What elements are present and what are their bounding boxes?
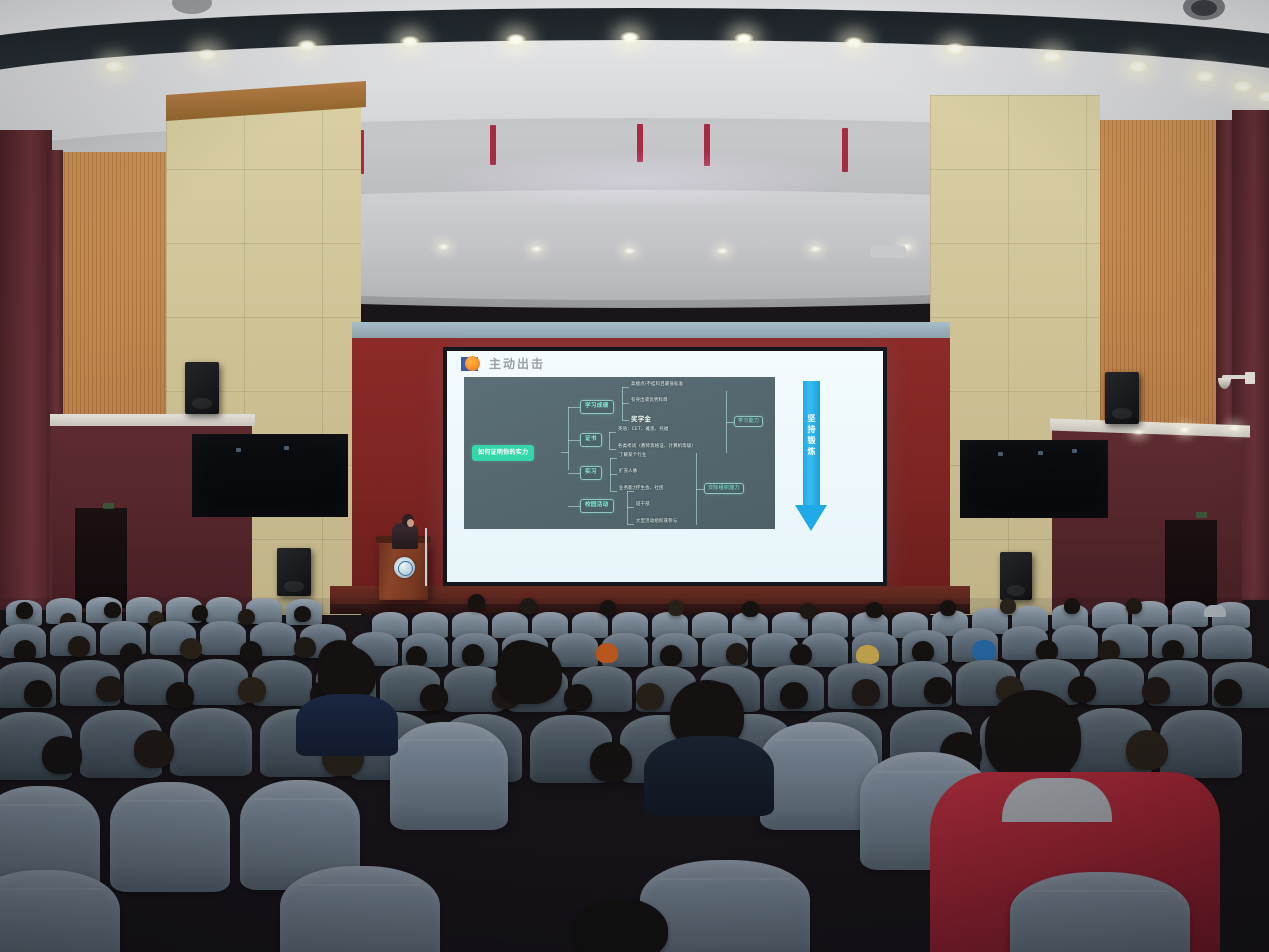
seat-crease bbox=[254, 798, 345, 800]
seat-crease bbox=[1032, 890, 1169, 892]
ceiling-spot bbox=[437, 243, 450, 251]
ceiling-downlight bbox=[1041, 50, 1063, 63]
ceiling-downlight bbox=[399, 35, 421, 48]
audience-head bbox=[1098, 640, 1120, 661]
right-soffit-spot bbox=[1132, 428, 1145, 436]
audience-head bbox=[24, 680, 52, 707]
mindmap-connector-branch4 bbox=[568, 506, 580, 507]
slide-header-title: 主动出击 bbox=[489, 355, 545, 372]
seat-crease bbox=[876, 771, 975, 773]
orange-circle-logo-icon bbox=[465, 356, 480, 371]
seat bbox=[1160, 710, 1242, 778]
seat-crease bbox=[0, 804, 86, 806]
audience-head bbox=[1162, 640, 1184, 661]
mindmap-connector-branch1 bbox=[568, 407, 580, 408]
ceiling-light-wash bbox=[430, 150, 850, 210]
audience-head bbox=[294, 606, 311, 622]
microphone-stem bbox=[425, 528, 427, 586]
ceiling-light-housing bbox=[870, 246, 906, 258]
ceiling-spot bbox=[623, 247, 636, 255]
panel-indicator-light bbox=[236, 448, 241, 452]
left-exit-door[interactable] bbox=[75, 508, 127, 608]
left-lower-soffit bbox=[50, 414, 255, 426]
mindmap-connector-b2-sub bbox=[609, 432, 610, 449]
arrow-label: 坚持锻炼 bbox=[804, 413, 819, 457]
audience-head bbox=[866, 602, 883, 618]
right-floor-speaker bbox=[1000, 552, 1032, 600]
mindmap-connector-spine bbox=[568, 407, 569, 470]
seat-foreground bbox=[1010, 872, 1190, 952]
mindmap-connector-b1-s1 bbox=[622, 387, 629, 388]
audience-head-orange-cap bbox=[596, 643, 618, 663]
audience-head bbox=[520, 598, 537, 614]
mindmap-connector-b3-s1 bbox=[610, 458, 617, 459]
mindmap-leaf-b3-2: 扩充人脉 bbox=[619, 470, 637, 474]
ceiling-downlight bbox=[296, 39, 318, 52]
audience-head bbox=[600, 600, 616, 616]
audience-head bbox=[406, 646, 427, 667]
audience-cap-icon bbox=[1204, 605, 1226, 617]
ceiling-downlight bbox=[843, 36, 865, 49]
ceiling-downlight bbox=[196, 48, 218, 61]
audience-head bbox=[134, 730, 174, 768]
projection-screen: 主动出击 如何证明你的实力 学习成绩 高绩点/不挂科且最低标准 有突出或优势科目… bbox=[447, 351, 883, 582]
lecturer-body bbox=[392, 523, 418, 549]
audience-head bbox=[42, 736, 82, 774]
seat-crease bbox=[774, 739, 864, 741]
audience-head bbox=[660, 645, 682, 666]
mindmap-branch-node-3: 实习 bbox=[580, 466, 602, 480]
mindmap-leaf-b4-3: 大型活动组织或参与 bbox=[636, 520, 677, 524]
mindmap-branch-node-1: 学习成绩 bbox=[580, 400, 614, 414]
ceiling-spot bbox=[530, 245, 543, 253]
audience-head bbox=[180, 638, 202, 659]
audience-head bbox=[96, 676, 124, 702]
audience-head bbox=[1126, 598, 1142, 614]
audience-head bbox=[1068, 676, 1096, 703]
arrow-head-icon bbox=[795, 505, 827, 531]
seat bbox=[1052, 625, 1098, 659]
mindmap-leaf-b1-2: 有突出或优势科目 bbox=[631, 399, 668, 403]
foreground-shoulders-left bbox=[296, 694, 398, 756]
seat-foreground bbox=[280, 866, 440, 952]
right-soffit-spot bbox=[1228, 424, 1241, 432]
audience-head bbox=[240, 641, 262, 663]
audience-head bbox=[940, 600, 956, 616]
ceiling-spot bbox=[809, 245, 822, 253]
mindmap-leaf-b4-2: 班干部 bbox=[636, 503, 650, 507]
seat-crease bbox=[660, 878, 789, 880]
audience-head bbox=[852, 679, 880, 706]
seat bbox=[1202, 625, 1252, 659]
audience-head bbox=[726, 643, 748, 665]
audience-head bbox=[636, 683, 664, 710]
audience-head bbox=[780, 682, 808, 709]
audience-head bbox=[166, 682, 194, 709]
ceiling-downlight bbox=[733, 32, 755, 45]
mindmap-connector-root bbox=[561, 452, 569, 453]
mindmap-connector-b4-s3 bbox=[627, 524, 634, 525]
audience-head bbox=[590, 742, 632, 782]
mindmap-leaf-b1-3: 奖学金 bbox=[631, 416, 651, 423]
foreground-head-right bbox=[985, 690, 1081, 782]
audience-head bbox=[468, 594, 485, 611]
ceiling-red-stripe bbox=[842, 128, 848, 172]
seat bbox=[170, 708, 252, 776]
right-wall-speaker bbox=[1105, 372, 1139, 424]
right-exit-sign bbox=[1196, 512, 1207, 518]
seat-crease bbox=[124, 800, 215, 802]
mindmap-leaf-b3-1: 了解某个行业 bbox=[619, 454, 647, 458]
panel-indicator-light bbox=[998, 452, 1003, 456]
panel-indicator-light bbox=[1038, 451, 1043, 455]
seat-crease bbox=[0, 888, 102, 890]
audience-head bbox=[238, 609, 255, 625]
mindmap-connector-branch3 bbox=[568, 473, 580, 474]
audience-head bbox=[790, 644, 812, 665]
mindmap-connector-b2-s1 bbox=[609, 432, 616, 433]
mindmap-leaf-b1-1: 高绩点/不挂科且最低标准 bbox=[631, 383, 683, 387]
left-exit-sign bbox=[103, 503, 114, 509]
audience-head bbox=[800, 603, 816, 619]
audience-head bbox=[924, 677, 952, 704]
seat-crease bbox=[299, 884, 421, 886]
mindmap-connector-summary2-out bbox=[696, 489, 704, 490]
podium-university-crest-icon bbox=[394, 557, 415, 578]
mindmap-connector-b4-s2 bbox=[627, 507, 634, 508]
ceiling-downlight bbox=[505, 33, 527, 46]
mindmap-leaf-b2-2: 各类考试（教师资格证、计算机等级） bbox=[618, 445, 696, 449]
mindmap-connector-branch2 bbox=[568, 440, 580, 441]
ceiling-downlight bbox=[619, 31, 641, 44]
ceiling-downlight bbox=[1232, 80, 1254, 93]
audience-head bbox=[1214, 679, 1242, 706]
audience-head bbox=[912, 641, 934, 662]
audience-head bbox=[420, 684, 448, 711]
mindmap-connector-summary1-out bbox=[726, 422, 734, 423]
ceiling-downlight bbox=[944, 42, 966, 55]
audience-head bbox=[14, 640, 36, 662]
panel-indicator-light bbox=[1072, 449, 1077, 453]
slide-mindmap-board: 如何证明你的实力 学习成绩 高绩点/不挂科且最低标准 有突出或优势科目 奖学金 … bbox=[464, 377, 775, 529]
stage-top-trim bbox=[352, 322, 950, 338]
audience-head bbox=[238, 677, 266, 703]
audience-head-yellow-cap bbox=[856, 645, 879, 664]
mindmap-connector-b3-s3 bbox=[610, 491, 617, 492]
mindmap-leaf-b2-1: 英语：CET、雅思、托福 bbox=[618, 428, 668, 432]
ceiling-downlight bbox=[1127, 60, 1149, 73]
ceiling-spot bbox=[716, 247, 729, 255]
mindmap-summary-node-2: 交际组织能力 bbox=[704, 483, 744, 494]
audience-head bbox=[294, 637, 316, 658]
audience-head bbox=[192, 605, 208, 621]
mindmap-branch-node-4: 校园活动 bbox=[580, 499, 614, 513]
audience-head bbox=[16, 602, 33, 619]
foreground-shoulders-midright bbox=[644, 736, 774, 816]
audience-head bbox=[668, 600, 684, 616]
ceiling-vent-right-inner bbox=[1191, 0, 1217, 16]
mindmap-branch-node-2: 证书 bbox=[580, 433, 602, 447]
right-dark-display-panel bbox=[960, 440, 1108, 518]
seat-foreground bbox=[0, 870, 120, 952]
panel-indicator-light bbox=[284, 446, 289, 450]
ceiling-downlight bbox=[103, 60, 125, 73]
audience-head bbox=[1126, 730, 1168, 770]
lecturer-face bbox=[407, 519, 414, 527]
right-soffit-spot bbox=[1178, 426, 1191, 434]
mindmap-connector-b4-s1 bbox=[627, 491, 634, 492]
mindmap-connector-b2-s2 bbox=[609, 449, 616, 450]
presentation-slide: 主动出击 如何证明你的实力 学习成绩 高绩点/不挂科且最低标准 有突出或优势科目… bbox=[447, 351, 883, 582]
mindmap-connector-b1-s2 bbox=[622, 403, 629, 404]
right-exit-door[interactable] bbox=[1165, 520, 1217, 610]
mindmap-connector-b1-s3 bbox=[622, 420, 629, 421]
audience-head bbox=[1000, 598, 1016, 614]
mindmap-connector-b3-s2 bbox=[610, 474, 617, 475]
auditorium-photo: 主动出击 如何证明你的实力 学习成绩 高绩点/不挂科且最低标准 有突出或优势科目… bbox=[0, 0, 1269, 952]
left-floor-speaker bbox=[277, 548, 311, 596]
mindmap-root-node: 如何证明你的实力 bbox=[472, 445, 534, 461]
audience-head bbox=[742, 601, 759, 617]
audience-head bbox=[104, 602, 121, 618]
audience-blue-jacket bbox=[972, 640, 996, 662]
foreground-shoulders-center bbox=[470, 692, 588, 760]
security-camera-mount bbox=[1245, 372, 1255, 384]
audience-head bbox=[462, 644, 484, 666]
mindmap-summary-node-1: 学习能力 bbox=[734, 416, 763, 427]
seat bbox=[206, 597, 242, 623]
audience-head bbox=[1142, 677, 1170, 704]
audience-head bbox=[68, 636, 90, 657]
audience-head bbox=[1064, 598, 1080, 614]
left-wall-speaker bbox=[185, 362, 219, 414]
ceiling-downlight bbox=[1194, 70, 1216, 83]
audience-head bbox=[1036, 640, 1058, 661]
persistence-arrow: 坚持锻炼 bbox=[795, 381, 828, 533]
mindmap-leaf-b4-1: 学生会、社团 bbox=[636, 487, 664, 491]
left-dark-display-panel bbox=[192, 434, 348, 517]
seat-foreground bbox=[110, 782, 230, 892]
left-outer-column bbox=[0, 130, 52, 610]
